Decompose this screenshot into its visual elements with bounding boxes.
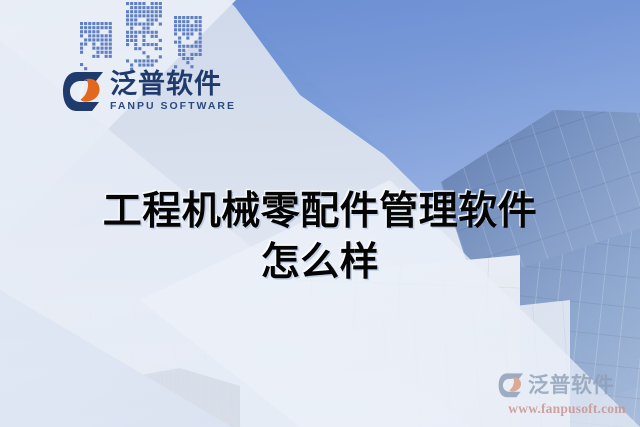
brand-logo: 泛普软件 FANPU SOFTWARE	[62, 70, 236, 112]
fanpu-hexagon-leaf-logo-icon	[498, 372, 525, 398]
promo-banner: 泛普软件 FANPU SOFTWARE 工程机械零配件管理软件 怎么样 泛普软件…	[0, 0, 640, 427]
watermark-name-cn: 泛普软件	[528, 375, 614, 396]
brand-name-en: FANPU SOFTWARE	[110, 100, 236, 112]
brand-name-cn: 泛普软件	[110, 70, 236, 98]
headline-line-2: 怎么样	[0, 237, 640, 288]
pixel-skyline-icon	[78, 2, 208, 74]
headline: 工程机械零配件管理软件 怎么样	[0, 186, 640, 289]
watermark-logo-row: 泛普软件	[498, 372, 636, 398]
watermark: 泛普软件 www.fanpusoft.com	[498, 372, 636, 417]
fanpu-hexagon-leaf-logo-icon	[62, 70, 106, 112]
brand-text-block: 泛普软件 FANPU SOFTWARE	[110, 70, 236, 112]
headline-line-1: 工程机械零配件管理软件	[0, 186, 640, 237]
watermark-url: www.fanpusoft.com	[498, 401, 636, 417]
